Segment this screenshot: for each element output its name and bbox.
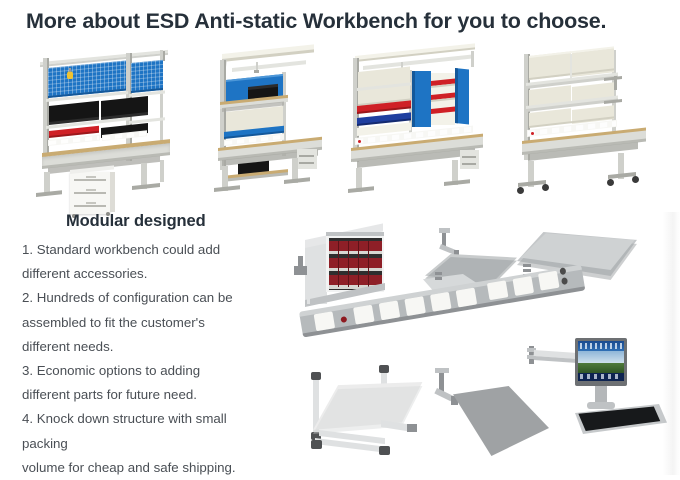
product-illustration xyxy=(500,48,665,204)
castor-wheel xyxy=(607,179,614,186)
product-image-workbench-with-blue-cabinet-and-bin-rails[interactable] xyxy=(341,48,496,204)
list-item: different parts for future need. xyxy=(22,383,284,407)
list-item: different needs. xyxy=(22,335,284,359)
panel-edge-shading xyxy=(662,212,680,475)
tool-hook-icon xyxy=(67,71,73,79)
list-item: 4. Knock down structure with small xyxy=(22,407,284,431)
product-image-cream-blue-workbench-with-overhead-light[interactable] xyxy=(196,48,336,204)
modular-feature-list: 1. Standard workbench could add differen… xyxy=(22,238,284,480)
list-item: assembled to fit the customer's xyxy=(22,311,284,335)
castor-wheel xyxy=(517,187,524,194)
accessory-angled-document-shelf-stand xyxy=(295,368,455,468)
product-illustration xyxy=(22,48,190,204)
castor-wheel xyxy=(542,184,549,191)
list-item: packing xyxy=(22,432,284,456)
product-image-mobile-cream-workbench-with-shelves[interactable] xyxy=(500,48,665,204)
list-item: different accessories. xyxy=(22,262,284,286)
list-item: 3. Economic options to adding xyxy=(22,359,284,383)
castor-wheel xyxy=(632,176,639,183)
modular-heading: Modular designed xyxy=(66,212,206,231)
product-illustration xyxy=(341,48,496,204)
list-item: 1. Standard workbench could add xyxy=(22,238,284,262)
list-item: volume for cheap and safe shipping. xyxy=(22,456,284,480)
accessories-image[interactable] xyxy=(285,212,680,475)
page-title: More about ESD Anti-static Workbench for… xyxy=(26,9,666,34)
accessory-monitor-arm-with-keyboard-tray xyxy=(527,338,677,468)
product-image-strip xyxy=(0,48,680,204)
product-image-blue-esd-workbench-with-drawer-cabinet[interactable] xyxy=(22,48,190,204)
modular-designed-section: Modular designed 1. Standard workbench c… xyxy=(0,204,285,475)
list-item: 2. Hundreds of configuration can be xyxy=(22,286,284,310)
product-illustration xyxy=(196,48,336,204)
